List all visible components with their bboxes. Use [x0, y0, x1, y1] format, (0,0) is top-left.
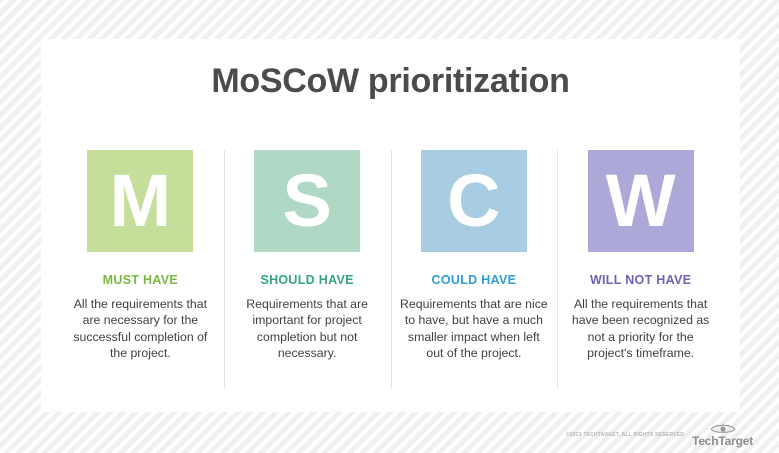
column-body-should: Requirements that are important for proj… [232, 296, 382, 362]
letter-box-should: S [254, 150, 360, 252]
column-heading-will-not: WILL NOT HAVE [590, 273, 691, 287]
column-body-will-not: All the requirements that have been reco… [566, 296, 716, 362]
letter-box-must: M [87, 150, 193, 252]
letter-box-will-not: W [588, 150, 694, 252]
moscow-column-should: S SHOULD HAVE Requirements that are impo… [224, 150, 391, 362]
letter-box-could: C [421, 150, 527, 252]
logo-wordmark: TechTarget [692, 435, 753, 447]
column-body-could: Requirements that are nice to have, but … [399, 296, 549, 362]
moscow-column-will-not: W WILL NOT HAVE All the requirements tha… [557, 150, 724, 362]
column-heading-must: MUST HAVE [103, 273, 178, 287]
column-heading-should: SHOULD HAVE [260, 273, 353, 287]
letter-glyph: C [447, 164, 500, 238]
letter-glyph: S [282, 164, 331, 238]
eye-icon [710, 423, 736, 434]
column-heading-could: COULD HAVE [432, 273, 517, 287]
letter-glyph: M [110, 164, 172, 238]
letter-glyph: W [606, 164, 676, 238]
moscow-columns: M MUST HAVE All the requirements that ar… [57, 150, 724, 362]
moscow-column-must: M MUST HAVE All the requirements that ar… [57, 150, 224, 362]
copyright-notice: ©2023 TECHTARGET, ALL RIGHTS RESERVED [566, 432, 684, 438]
footer: ©2023 TECHTARGET, ALL RIGHTS RESERVED Te… [566, 423, 753, 447]
page-title: MoSCoW prioritization [41, 62, 740, 101]
infographic-card: MoSCoW prioritization M MUST HAVE All th… [41, 39, 740, 412]
column-body-must: All the requirements that are necessary … [65, 296, 215, 362]
moscow-column-could: C COULD HAVE Requirements that are nice … [391, 150, 558, 362]
techtarget-logo: TechTarget [692, 423, 753, 447]
